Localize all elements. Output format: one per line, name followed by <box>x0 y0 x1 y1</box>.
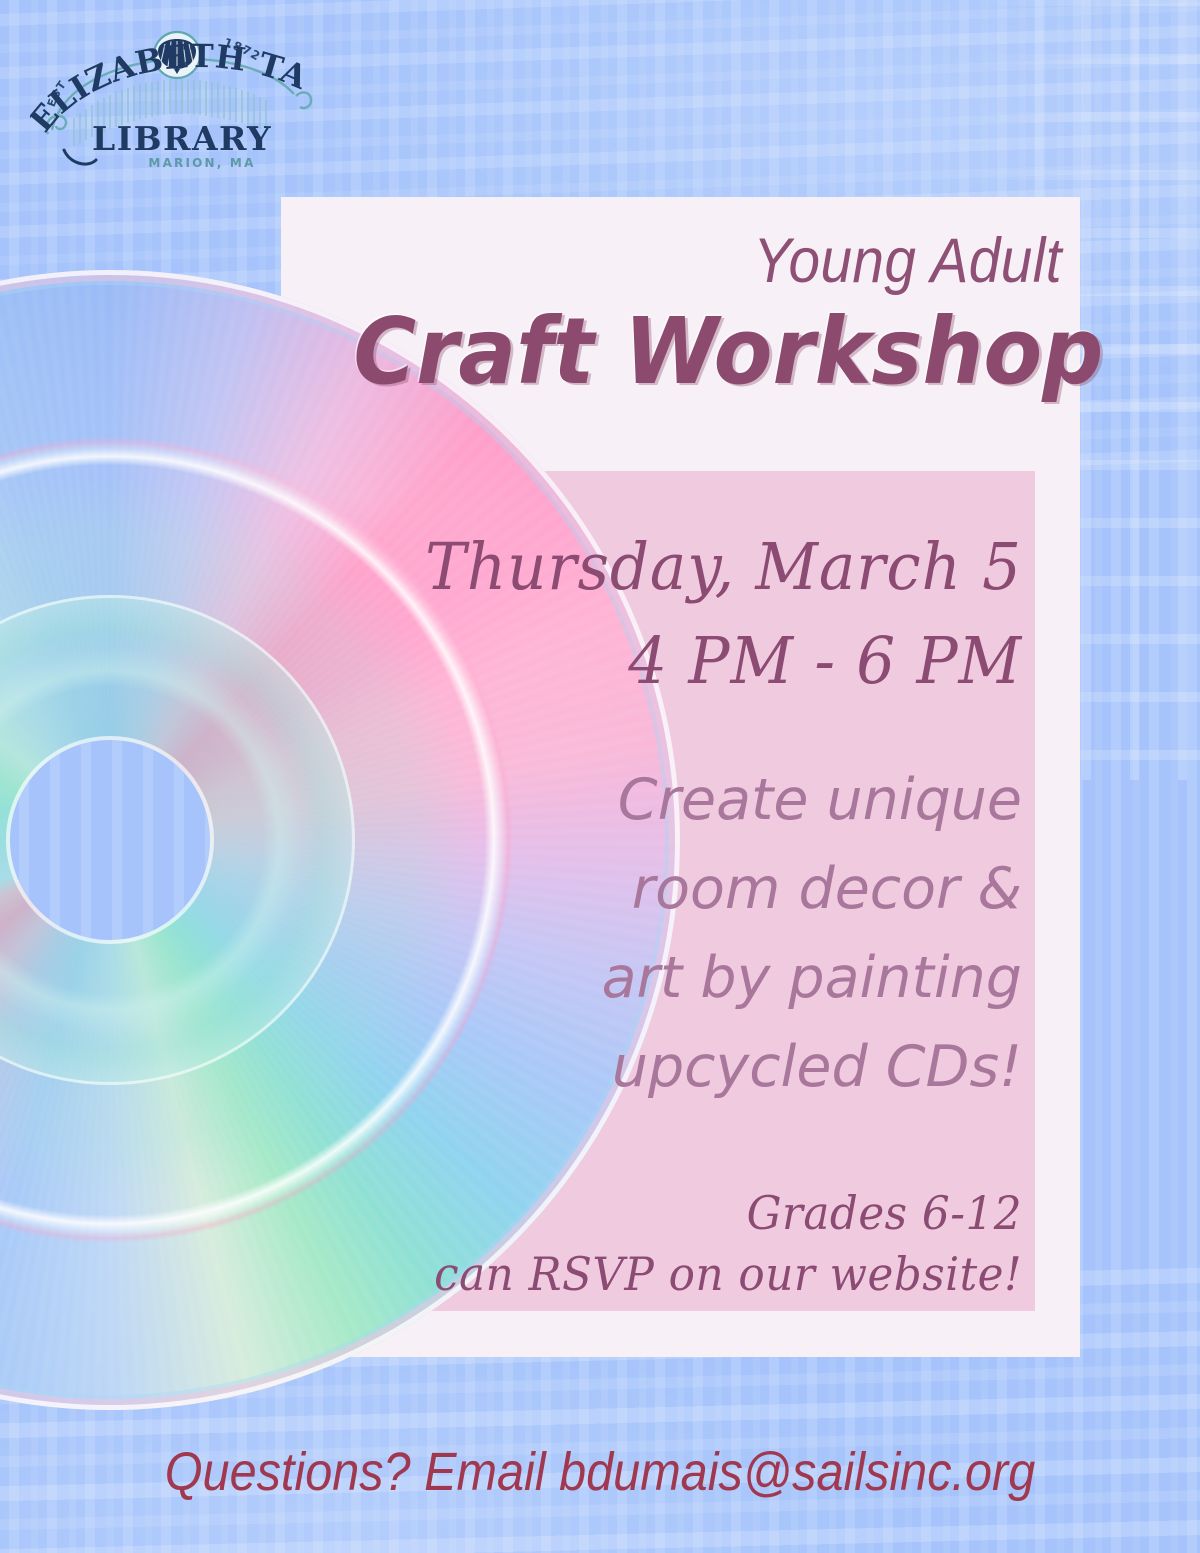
poster-canvas: EST 1872 <box>0 0 1200 1553</box>
description-line-4: upcycled CDs! <box>430 1023 1022 1112</box>
description-line-1: Create unique <box>430 756 1022 845</box>
eligibility-rsvp: can RSVP on our website! <box>365 1244 1022 1305</box>
description-line-3: art by painting <box>430 934 1022 1023</box>
event-description-block: Create unique room decor & art by painti… <box>430 756 1022 1112</box>
footer-contact: Questions? Email bdumais@sailsinc.org <box>60 1441 1140 1503</box>
event-time: 4 PM - 6 PM <box>343 615 1022 709</box>
description-line-2: room decor & <box>430 845 1022 934</box>
event-datetime-block: Thursday, March 5 4 PM - 6 PM <box>343 521 1022 710</box>
eligibility-block: Grades 6-12 can RSVP on our website! <box>365 1183 1022 1305</box>
logo-line-2: LIBRARY <box>92 119 272 158</box>
logo-line-3: MARION, MA <box>148 156 255 170</box>
elizabeth-taber-library-logo: EST 1872 <box>30 22 320 172</box>
kicker-text: Young Adult <box>376 228 1062 294</box>
event-date: Thursday, March 5 <box>343 521 1022 615</box>
page-title: Craft Workshop <box>353 300 1062 403</box>
eligibility-grades: Grades 6-12 <box>365 1183 1022 1244</box>
headline-block: Young Adult Craft Workshop <box>300 228 1062 403</box>
